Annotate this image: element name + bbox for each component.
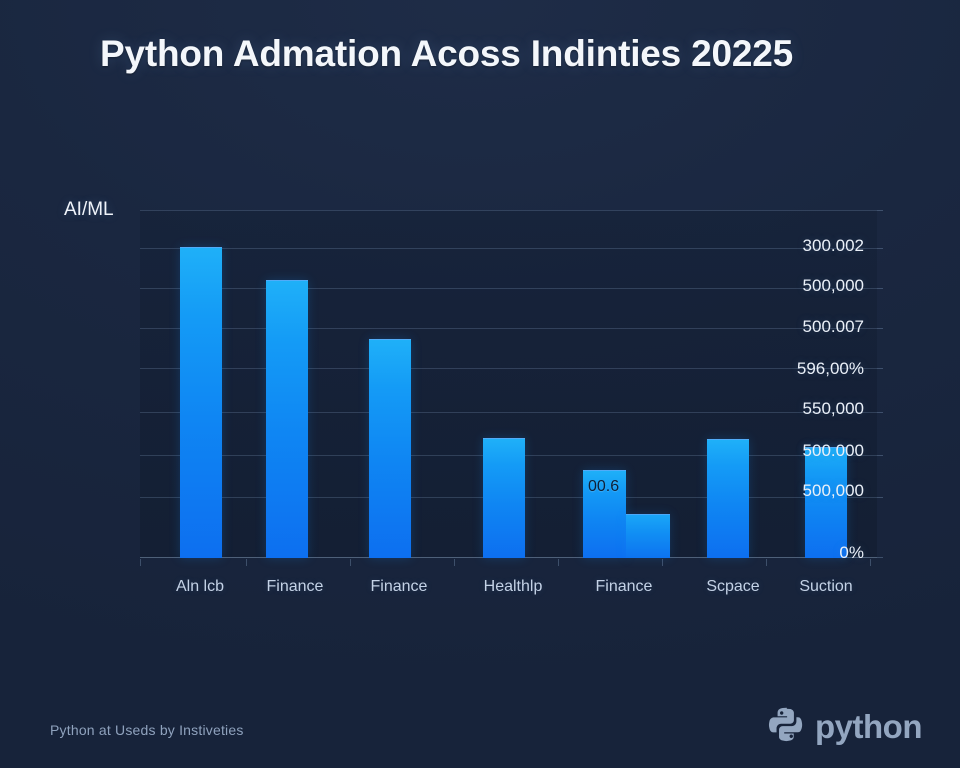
x-tick xyxy=(870,559,871,566)
page-title: Python Admation Acoss Indinties 20225 xyxy=(100,33,900,75)
y-tick xyxy=(877,557,883,558)
y-tick xyxy=(877,368,883,369)
y-tick-label: 500,000 xyxy=(744,481,864,501)
x-tick xyxy=(140,559,141,566)
bar-finance-3-step[interactable] xyxy=(626,514,670,558)
x-tick xyxy=(662,559,663,566)
y-tick xyxy=(877,497,883,498)
x-label-suction: Suction xyxy=(751,578,901,596)
x-tick xyxy=(454,559,455,566)
python-logo: python xyxy=(768,705,922,748)
python-logo-icon xyxy=(768,705,806,748)
gridline xyxy=(140,210,877,211)
bar-scpace[interactable] xyxy=(707,439,749,558)
python-wordmark: python xyxy=(815,710,922,743)
bar-healthlp[interactable] xyxy=(483,438,525,558)
x-tick xyxy=(558,559,559,566)
y-tick xyxy=(877,328,883,329)
y-tick xyxy=(877,412,883,413)
bar-finance-1[interactable] xyxy=(266,280,308,558)
y-tick xyxy=(877,288,883,289)
y-tick-label: 500.007 xyxy=(744,317,864,337)
y-tick-label: 596,00% xyxy=(744,359,864,379)
bar-value-label: 00.6 xyxy=(588,478,619,496)
y-tick xyxy=(877,248,883,249)
bar-aln-lcb[interactable] xyxy=(180,247,222,558)
y-axis-title: AI/ML xyxy=(64,199,114,221)
chart-canvas: Python Admation Acoss Indinties 20225 AI… xyxy=(0,0,960,768)
footer-note: Python at Useds by Instiveties xyxy=(50,722,244,738)
y-tick-label: 0% xyxy=(744,543,864,563)
x-tick xyxy=(766,559,767,566)
y-tick-label: 550,000 xyxy=(744,399,864,419)
x-tick xyxy=(350,559,351,566)
y-tick xyxy=(877,210,883,211)
bar-suction[interactable] xyxy=(805,447,847,558)
y-tick xyxy=(877,455,883,456)
plot-area: 00.6 xyxy=(140,210,877,558)
y-tick-label: 500.000 xyxy=(744,441,864,461)
y-tick-label: 300.002 xyxy=(744,236,864,256)
bar-finance-2[interactable] xyxy=(369,339,411,558)
y-tick-label: 500,000 xyxy=(744,276,864,296)
x-tick xyxy=(246,559,247,566)
